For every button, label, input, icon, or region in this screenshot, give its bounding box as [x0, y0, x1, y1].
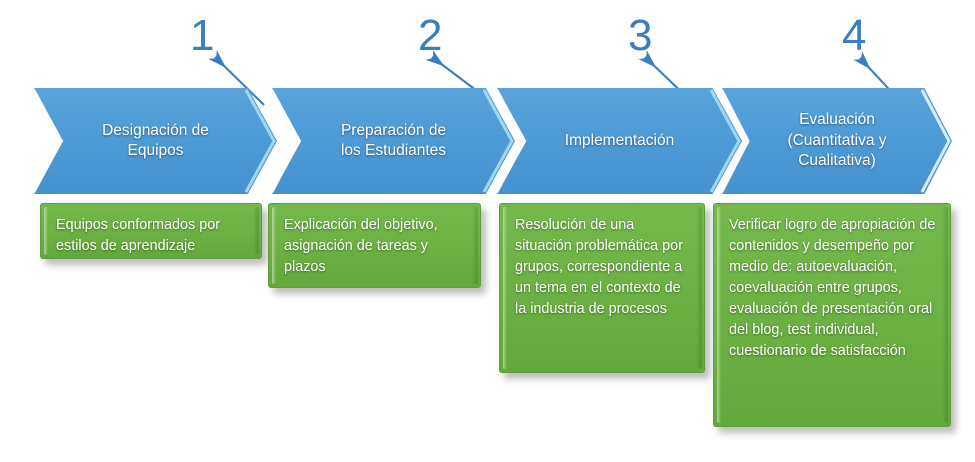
chevron-band: Designación de Equipos Preparación de lo…: [0, 88, 975, 198]
detail-box-1-text: Equipos conformados por estilos de apren…: [56, 215, 248, 257]
detail-box-3-text: Resolución de una situación problemática…: [515, 215, 691, 320]
stage-chevron-3[interactable]: Implementación: [497, 88, 742, 194]
stage-chevron-2[interactable]: Preparación de los Estudiantes: [272, 88, 515, 194]
detail-box-3[interactable]: Resolución de una situación problemática…: [499, 203, 705, 373]
stage-chevron-2-label: Preparación de los Estudiantes: [333, 121, 454, 162]
stage-chevron-4-label: Evaluación (Cuantitativa y Cualitativa): [779, 110, 894, 171]
detail-box-4[interactable]: Verificar logro de apropiación de conten…: [713, 203, 951, 427]
stage-chevron-1-label: Designación de Equipos: [94, 121, 217, 162]
stage-chevron-3-label: Implementación: [557, 131, 682, 151]
detail-box-1[interactable]: Equipos conformados por estilos de apren…: [40, 203, 262, 259]
diagram-canvas: 1 2 3 4 Designación de Equipos: [0, 0, 975, 462]
detail-box-4-text: Verificar logro de apropiación de conten…: [729, 215, 937, 362]
detail-box-2[interactable]: Explicación del objetivo, asignación de …: [268, 203, 481, 288]
detail-box-2-text: Explicación del objetivo, asignación de …: [284, 215, 467, 278]
stage-chevron-1[interactable]: Designación de Equipos: [34, 88, 277, 194]
stage-chevron-4[interactable]: Evaluación (Cuantitativa y Cualitativa): [722, 88, 952, 194]
